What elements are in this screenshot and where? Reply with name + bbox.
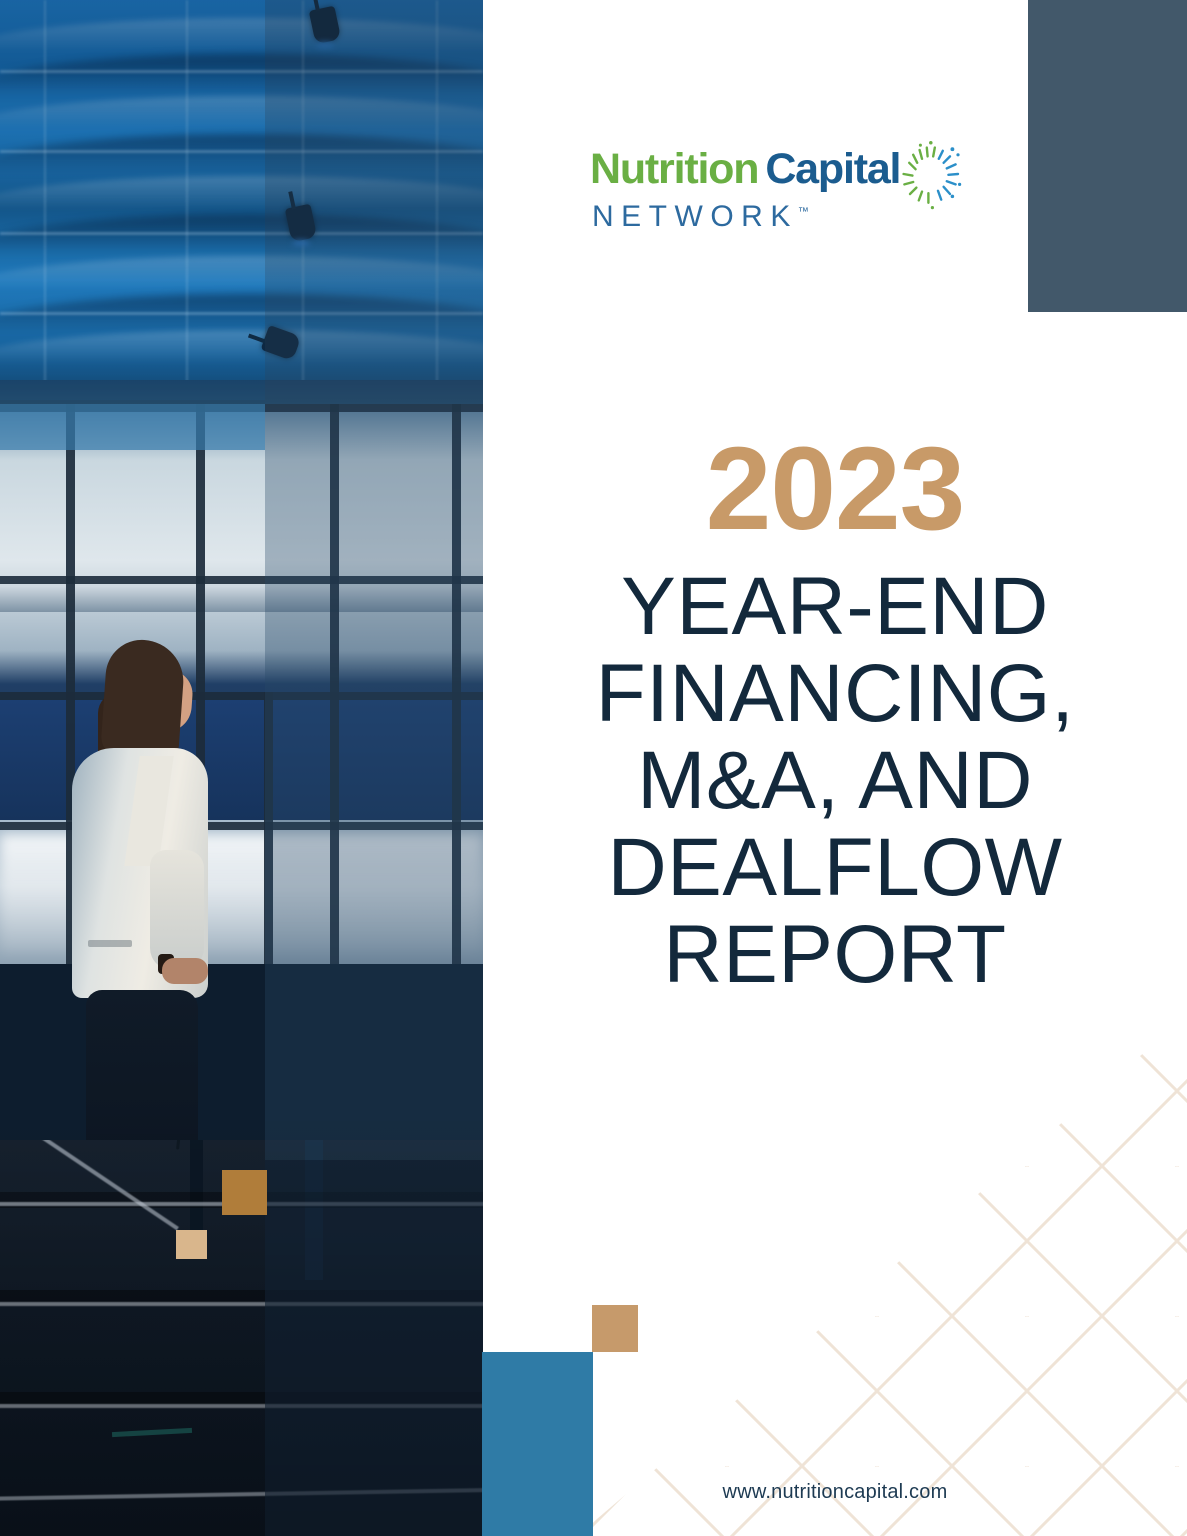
footer-website-url[interactable]: www.nutritioncapital.com bbox=[483, 1481, 1187, 1504]
title-line-2: FINANCING, bbox=[483, 651, 1187, 738]
slate-corner-block bbox=[1028, 0, 1187, 312]
accent-square-tan bbox=[592, 1305, 638, 1352]
report-year: 2023 bbox=[483, 430, 1187, 548]
logo-subtitle: NETWORK™ bbox=[592, 202, 809, 232]
logo-subtitle-text: NETWORK bbox=[592, 200, 798, 233]
report-cover-page: NutritionCapital NETWORK™ bbox=[0, 0, 1187, 1536]
blue-corner-block bbox=[482, 1352, 593, 1536]
company-logo: NutritionCapital NETWORK™ bbox=[590, 140, 970, 245]
accent-square-light bbox=[176, 1230, 207, 1259]
title-line-3: M&A, AND bbox=[483, 738, 1187, 825]
logo-wordmark: NutritionCapital bbox=[590, 148, 900, 191]
logo-word-nutrition: Nutrition bbox=[590, 145, 758, 193]
trademark-symbol: ™ bbox=[798, 206, 809, 218]
title-line-5: REPORT bbox=[483, 912, 1187, 999]
logo-word-capital: Capital bbox=[765, 145, 900, 193]
accent-square-dark bbox=[222, 1170, 267, 1215]
title-line-4: DEALFLOW bbox=[483, 825, 1187, 912]
cover-title-block: 2023 YEAR-END FINANCING, M&A, AND DEALFL… bbox=[483, 430, 1187, 999]
report-title: YEAR-END FINANCING, M&A, AND DEALFLOW RE… bbox=[483, 564, 1187, 999]
lattice-pattern bbox=[577, 1016, 1187, 1536]
radial-burst-icon bbox=[882, 134, 962, 214]
title-line-1: YEAR-END bbox=[483, 564, 1187, 651]
cover-photo bbox=[0, 0, 483, 1536]
